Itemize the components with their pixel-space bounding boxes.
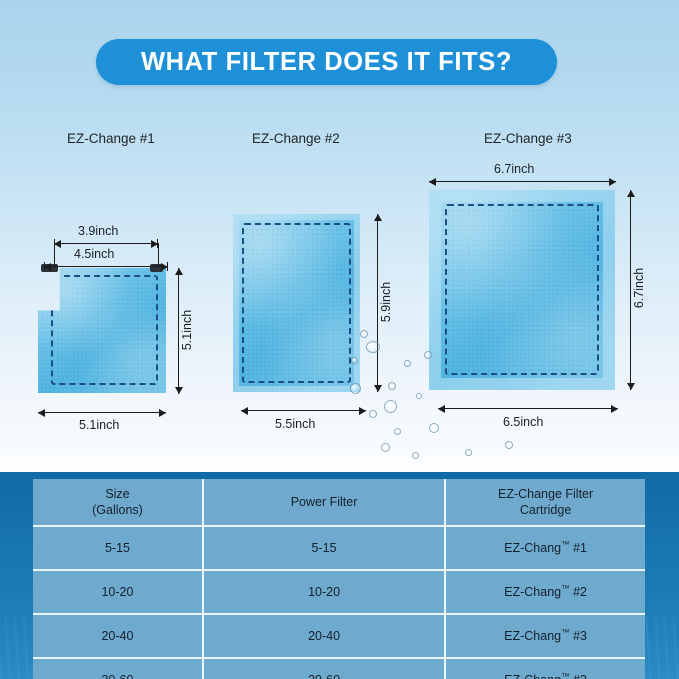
filter-pad-3 — [429, 190, 615, 390]
filter-pad-1-stitching — [51, 275, 158, 385]
bubble-icon — [394, 428, 401, 435]
bubble-icon — [429, 423, 439, 433]
cell-size: 5-15 — [33, 527, 204, 571]
table-header-cartridge: EZ-Change Filter Cartridge — [446, 479, 645, 527]
dim-label-p1-width: 5.1inch — [79, 418, 119, 432]
bubble-icon — [424, 351, 432, 359]
cell-power-filter: 30-60 — [204, 659, 446, 679]
dim-label-p2-height: 5.9inch — [379, 272, 393, 332]
filter-pad-2 — [233, 214, 360, 392]
cartridge-number: #1 — [573, 542, 587, 556]
bubble-icon — [366, 341, 380, 353]
dim-line-p1-width — [38, 412, 166, 413]
bubble-icon — [369, 410, 377, 418]
cartridge-name: EZ-Chang — [504, 674, 561, 679]
cell-cartridge: EZ-Chang™ #2 — [446, 571, 645, 615]
dim-connector-p1-left — [54, 243, 55, 267]
dim-label-p3-width: 6.5inch — [503, 415, 543, 429]
cell-power-filter: 5-15 — [204, 527, 446, 571]
dim-line-p3-top — [429, 181, 616, 182]
dim-label-p1-top-inner: 4.5inch — [74, 247, 114, 261]
dim-line-p2-width — [241, 410, 366, 411]
cartridge-name: EZ-Chang — [504, 586, 561, 600]
bubble-icon — [350, 383, 361, 394]
dim-line-p1-top-inner — [44, 266, 168, 267]
table-row: 20-40 20-40 EZ-Chang™ #3 — [33, 615, 645, 659]
table-header-size-line1: Size — [33, 486, 202, 502]
cell-power-filter: 10-20 — [204, 571, 446, 615]
trademark-symbol: ™ — [561, 583, 570, 593]
bubble-icon — [404, 360, 411, 367]
cell-cartridge: EZ-Chang™ #3 — [446, 615, 645, 659]
bubble-icon — [388, 382, 396, 390]
table-header-row: Size (Gallons) Power Filter EZ-Change Fi… — [33, 479, 645, 527]
cartridge-number: #3 — [573, 674, 587, 679]
dim-line-p1-height — [178, 268, 179, 394]
bubble-icon — [412, 452, 419, 459]
bubble-icon — [465, 449, 472, 456]
filter-pad-3-stitching — [445, 204, 599, 375]
product-caption-3: EZ-Change #3 — [484, 131, 572, 146]
title-banner: WHAT FILTER DOES IT FITS? — [96, 39, 557, 85]
dim-line-p3-height — [630, 190, 631, 390]
product-caption-1: EZ-Change #1 — [67, 131, 155, 146]
cartridge-name: EZ-Chang — [504, 542, 561, 556]
trademark-symbol: ™ — [561, 671, 570, 679]
dim-line-p1-top-outer — [54, 243, 158, 244]
table-row: 5-15 5-15 EZ-Chang™ #1 — [33, 527, 645, 571]
table-row: 10-20 10-20 EZ-Chang™ #2 — [33, 571, 645, 615]
bubble-icon — [416, 393, 422, 399]
bubble-icon — [384, 400, 397, 413]
dim-label-p1-top-outer: 3.9inch — [78, 224, 118, 238]
dim-line-p2-height — [377, 214, 378, 392]
table-row: 30-60 30-60 EZ-Chang™ #3 — [33, 659, 645, 679]
bubble-icon — [505, 441, 513, 449]
page-title: WHAT FILTER DOES IT FITS? — [141, 48, 512, 77]
cell-power-filter: 20-40 — [204, 615, 446, 659]
table-header-cartridge-line1: EZ-Change Filter — [446, 486, 645, 502]
trademark-symbol: ™ — [561, 539, 570, 549]
cartridge-number: #3 — [573, 630, 587, 644]
dim-connector-p1-right — [158, 243, 159, 267]
cell-size: 10-20 — [33, 571, 204, 615]
cartridge-number: #2 — [573, 586, 587, 600]
cell-size: 30-60 — [33, 659, 204, 679]
trademark-symbol: ™ — [561, 627, 570, 637]
dim-line-p3-width — [438, 408, 618, 409]
bubble-icon — [351, 357, 358, 364]
table-header-cartridge-line2: Cartridge — [446, 502, 645, 518]
dim-label-p2-width: 5.5inch — [275, 417, 315, 431]
bubble-icon — [381, 443, 390, 452]
table-header-size: Size (Gallons) — [33, 479, 204, 527]
cell-cartridge: EZ-Chang™ #3 — [446, 659, 645, 679]
filter-pad-2-stitching — [242, 223, 351, 383]
bubble-icon — [360, 330, 368, 338]
product-caption-2: EZ-Change #2 — [252, 131, 340, 146]
cell-cartridge: EZ-Chang™ #1 — [446, 527, 645, 571]
dim-label-p1-height: 5.1inch — [180, 300, 194, 360]
table-header-size-line2: (Gallons) — [33, 502, 202, 518]
dim-label-p3-top: 6.7inch — [494, 162, 534, 176]
compatibility-table: Size (Gallons) Power Filter EZ-Change Fi… — [33, 479, 645, 679]
cell-size: 20-40 — [33, 615, 204, 659]
filter-pad-1 — [38, 268, 166, 393]
infographic-page: WHAT FILTER DOES IT FITS? EZ-Change #1 E… — [0, 0, 679, 679]
dim-label-p3-height: 6.7inch — [632, 258, 646, 318]
cartridge-name: EZ-Chang — [504, 630, 561, 644]
table-header-power-filter: Power Filter — [204, 479, 446, 527]
